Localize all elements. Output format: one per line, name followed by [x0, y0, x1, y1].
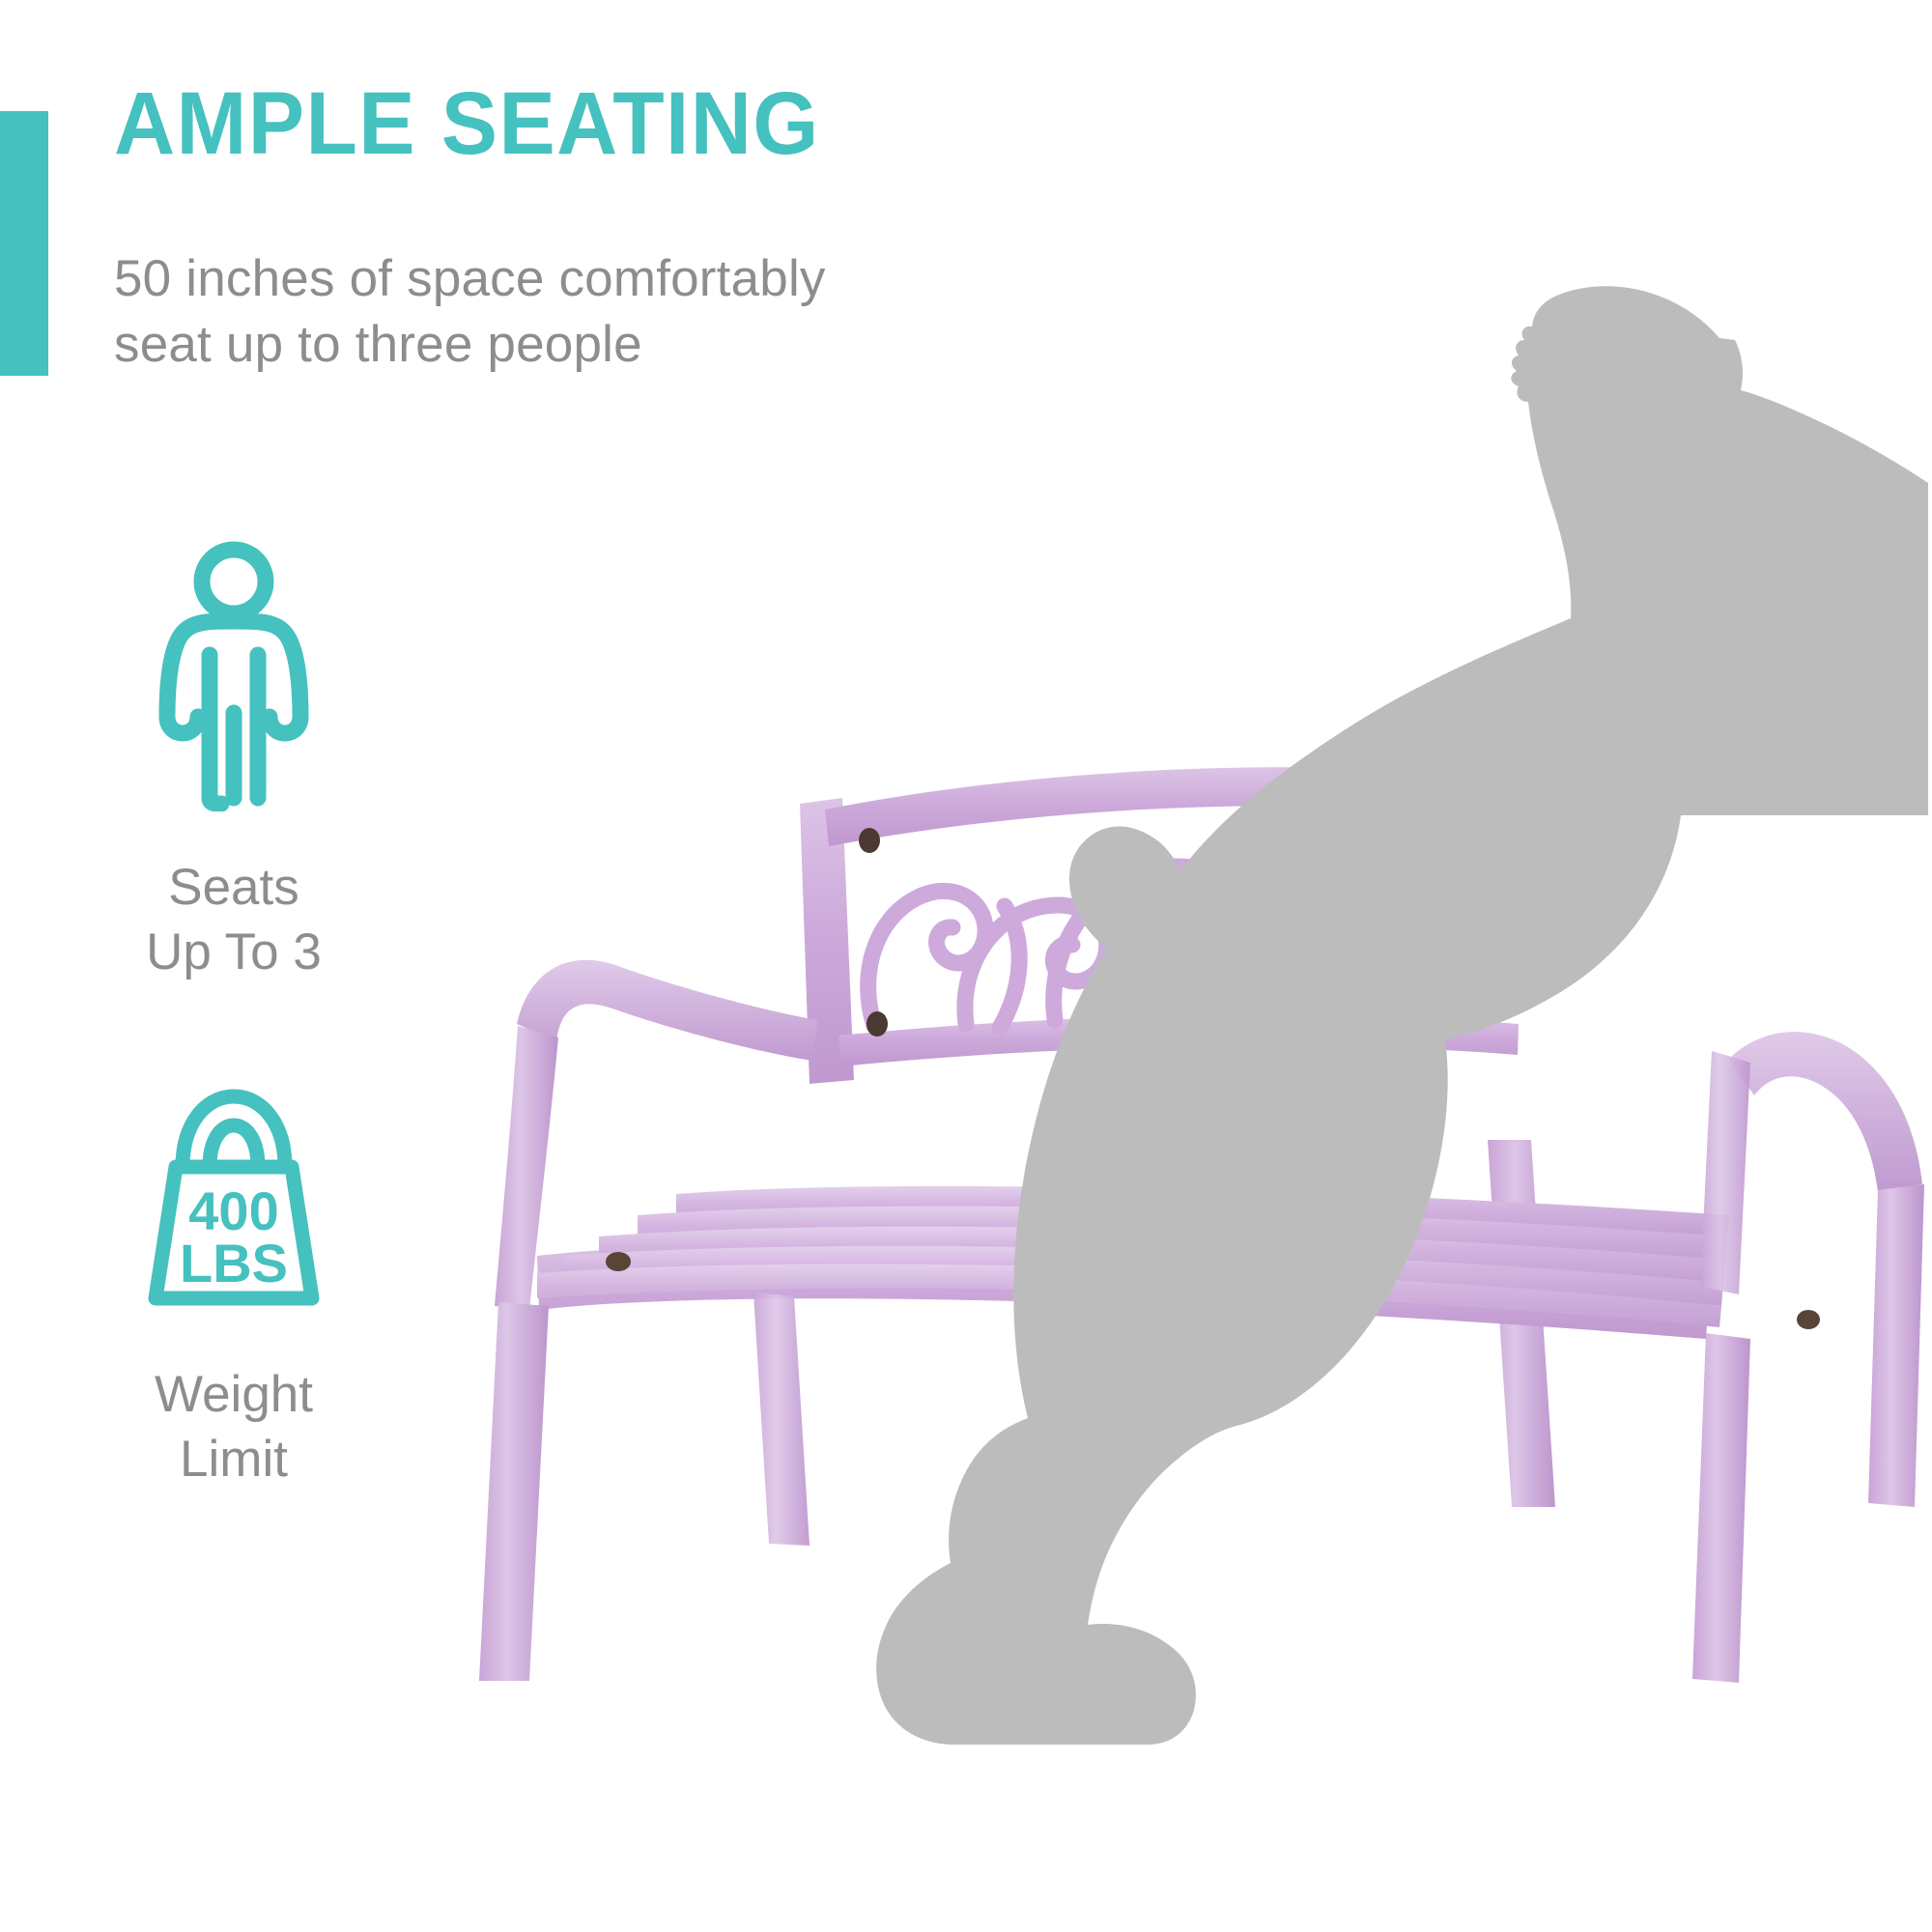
bench-front-legs: [479, 1293, 810, 1681]
bench-bolt: [606, 1252, 631, 1271]
product-feature-graphic: AMPLE SEATING 50 inches of space comfort…: [0, 0, 1932, 1932]
weight-unit-lbs: LBS: [180, 1233, 288, 1293]
page-subtitle: 50 inches of space comfortably seat up t…: [114, 246, 1041, 378]
person-standing-icon: [152, 541, 316, 811]
bench-bolt: [867, 1011, 888, 1037]
seats-caption-line-2: Up To 3: [31, 921, 437, 985]
weight-caption-line-2: Limit: [31, 1428, 437, 1492]
bench-bolt: [859, 828, 880, 853]
bench-right-armrest: [1692, 1032, 1924, 1683]
bench-bolt: [1797, 1310, 1820, 1329]
teal-accent-bar: [0, 111, 48, 376]
feature-weight-caption: Weight Limit: [31, 1363, 437, 1492]
feature-seats-up-to-3: Seats Up To 3: [31, 541, 437, 985]
feature-seats-caption: Seats Up To 3: [31, 856, 437, 985]
weight-bag-icon: 400 LBS: [123, 1077, 345, 1319]
feature-weight-limit: 400 LBS Weight Limit: [31, 1077, 437, 1492]
seats-caption-line-1: Seats: [31, 856, 437, 921]
subtitle-line-2: seat up to three people: [114, 312, 1041, 378]
seated-man-silhouette: [876, 286, 1928, 1745]
subtitle-line-1: 50 inches of space comfortably: [114, 246, 1041, 312]
weight-caption-line-1: Weight: [31, 1363, 437, 1428]
page-title: AMPLE SEATING: [114, 79, 820, 168]
